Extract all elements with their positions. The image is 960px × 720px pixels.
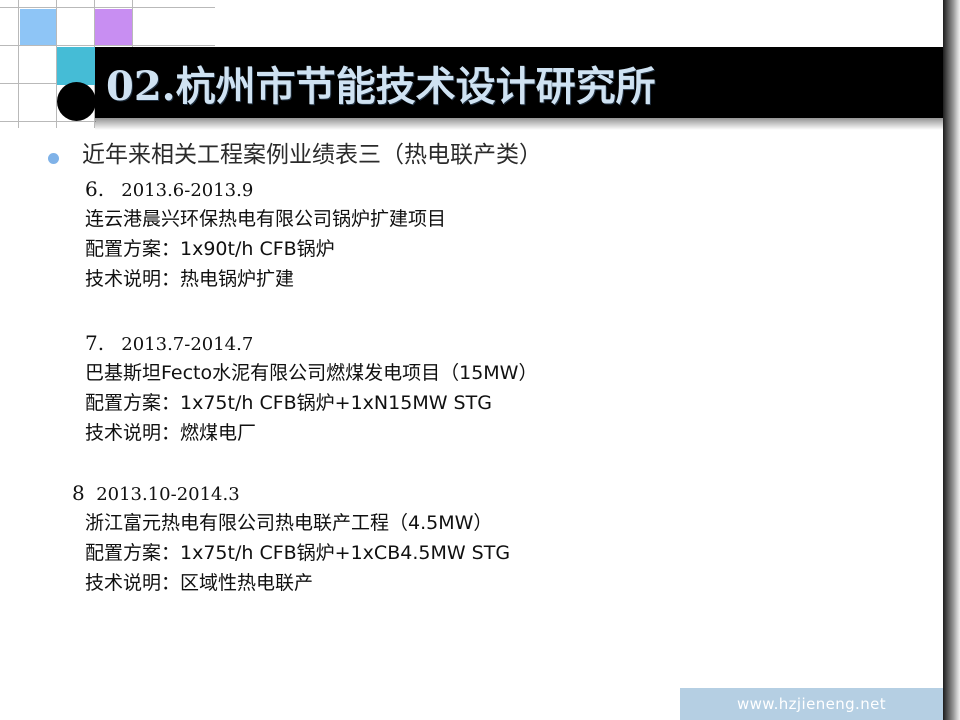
slide-canvas: 02.杭州市节能技术设计研究所 近年来相关工程案例业绩表三（热电联产类） 6. … bbox=[0, 0, 960, 720]
project-entry-7-header: 7. 2013.7-2014.7 bbox=[85, 330, 943, 358]
project-entry-7: 7. 2013.7-2014.7 巴基斯坦Fecto水泥有限公司燃煤发电项目（1… bbox=[0, 330, 943, 448]
title-bar-shadow bbox=[95, 118, 945, 130]
page-title: 02.杭州市节能技术设计研究所 bbox=[106, 54, 656, 112]
project-entry-7-number: 7. bbox=[85, 331, 104, 355]
project-entry-7-project: 巴基斯坦Fecto水泥有限公司燃煤发电项目（15MW） bbox=[85, 358, 943, 388]
project-entry-7-configuration: 配置方案：1x75t/h CFB锅炉+1xN15MW STG bbox=[85, 388, 943, 418]
footer-bar: www.hzjieneng.net bbox=[680, 688, 943, 720]
grid-line-horizontal-4 bbox=[0, 121, 96, 122]
project-entry-6-date-range: 2013.6-2013.9 bbox=[121, 180, 253, 201]
grid-line-horizontal-2 bbox=[0, 45, 215, 46]
grid-line-vertical-1 bbox=[18, 0, 19, 128]
decoration-square-teal bbox=[57, 47, 95, 85]
decoration-circle-black bbox=[57, 82, 96, 121]
content-heading-text: 近年来相关工程案例业绩表三（热电联产类） bbox=[82, 142, 542, 168]
footer-website-url: www.hzjieneng.net bbox=[680, 695, 943, 713]
project-entry-8-technical-note: 技术说明：区域性热电联产 bbox=[72, 568, 943, 598]
project-entry-6-header: 6. 2013.6-2013.9 bbox=[85, 176, 943, 204]
project-entry-7-date-range: 2013.7-2014.7 bbox=[121, 334, 253, 355]
decoration-square-purple bbox=[95, 9, 132, 45]
project-entry-7-technical-note: 技术说明：燃煤电厂 bbox=[85, 418, 943, 448]
slide-content: 近年来相关工程案例业绩表三（热电联产类） 6. 2013.6-2013.9 连云… bbox=[0, 140, 943, 598]
project-entry-8: 8 2013.10-2014.3 浙江富元热电有限公司热电联产工程（4.5MW）… bbox=[0, 480, 943, 598]
project-entry-6: 6. 2013.6-2013.9 连云港晨兴环保热电有限公司锅炉扩建项目 配置方… bbox=[0, 176, 943, 294]
slide-title-bar: 02.杭州市节能技术设计研究所 bbox=[95, 47, 945, 118]
content-heading-row: 近年来相关工程案例业绩表三（热电联产类） bbox=[0, 140, 943, 174]
project-entry-8-configuration: 配置方案：1x75t/h CFB锅炉+1xCB4.5MW STG bbox=[72, 538, 943, 568]
project-entry-8-project: 浙江富元热电有限公司热电联产工程（4.5MW） bbox=[72, 508, 943, 538]
decoration-square-light-blue bbox=[20, 9, 56, 45]
project-entry-8-number: 8 bbox=[72, 481, 85, 505]
grid-line-horizontal-1 bbox=[0, 7, 215, 8]
project-entry-6-number: 6. bbox=[85, 177, 104, 201]
project-entry-8-header: 8 2013.10-2014.3 bbox=[72, 480, 943, 508]
project-entry-6-technical-note: 技术说明：热电锅炉扩建 bbox=[85, 264, 943, 294]
right-edge-shadow bbox=[943, 0, 960, 720]
project-entry-8-date-range: 2013.10-2014.3 bbox=[96, 484, 240, 505]
project-entry-6-project: 连云港晨兴环保热电有限公司锅炉扩建项目 bbox=[85, 204, 943, 234]
bullet-dot-icon bbox=[48, 153, 59, 164]
project-entry-6-configuration: 配置方案：1x90t/h CFB锅炉 bbox=[85, 234, 943, 264]
